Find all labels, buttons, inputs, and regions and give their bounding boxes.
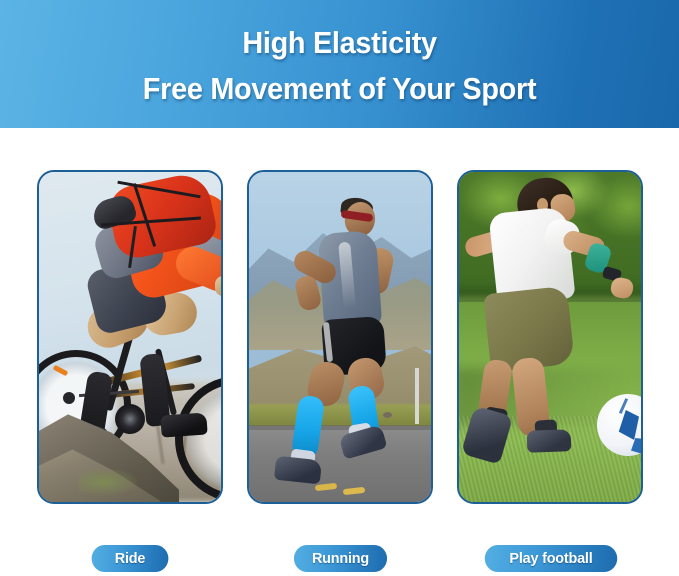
rider-glove — [215, 276, 221, 296]
label-pill-running[interactable]: Running — [294, 545, 387, 572]
header-banner: High Elasticity Free Movement of Your Sp… — [0, 0, 679, 128]
roadside-rock-b — [383, 412, 392, 418]
banner-headline-primary: High Elasticity — [242, 24, 436, 62]
rider-shoe-back — [160, 412, 207, 437]
activity-labels-row: Ride Running Play football — [0, 545, 679, 575]
activity-cards-row — [0, 170, 679, 504]
rear-wheel-hub — [63, 392, 75, 404]
boy-shoe-front — [527, 429, 572, 453]
activity-card-ride[interactable] — [37, 170, 223, 504]
ride-photo — [39, 172, 221, 502]
football-photo — [459, 172, 641, 502]
label-pill-play-football[interactable]: Play football — [485, 545, 617, 572]
label-pill-ride[interactable]: Ride — [92, 545, 169, 572]
roadside-post — [415, 368, 419, 424]
activity-card-running[interactable] — [247, 170, 433, 504]
hill-moss — [79, 468, 139, 496]
bike-crank-hub — [122, 411, 138, 427]
runner-shoe-front — [274, 456, 322, 485]
banner-headline-secondary: Free Movement of Your Sport — [143, 70, 536, 108]
road-edge-line — [249, 425, 431, 430]
running-photo — [249, 172, 431, 502]
activity-card-play-football[interactable] — [457, 170, 643, 504]
